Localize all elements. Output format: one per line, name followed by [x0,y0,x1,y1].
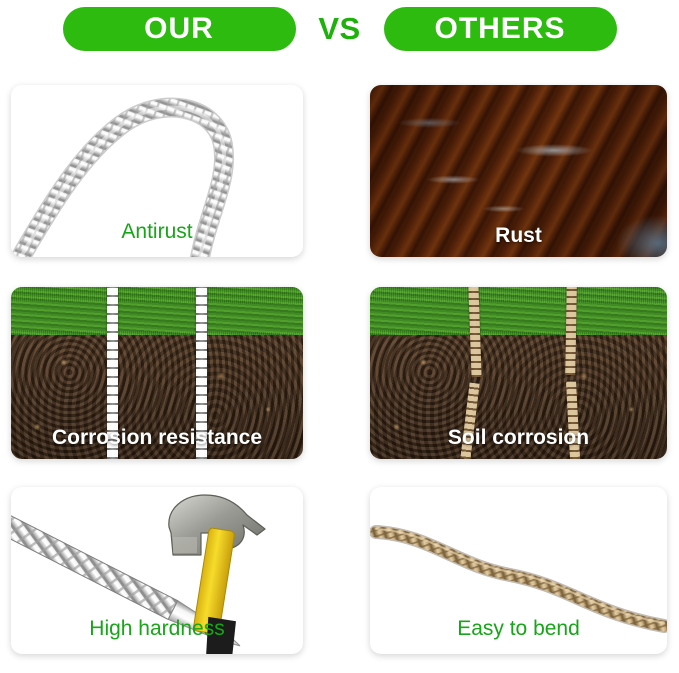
grass-layer [370,287,667,335]
bend-image [370,487,667,654]
soil-layer [11,335,303,459]
silver-stake-right-icon [196,287,207,459]
rebar-stake-with-hammer-icon [11,487,303,654]
our-badge-label: OUR [144,12,214,46]
comparison-header: OUR VS OTHERS [0,0,679,58]
vs-label: VS [318,11,360,47]
card-others-rust: Rust [370,85,667,257]
vs-separator: VS [296,11,384,47]
soil-cross-section-bad [370,287,667,459]
our-badge: OUR [63,7,296,51]
others-badge: OTHERS [384,7,617,51]
card-our-high-hardness: High hardness [11,487,303,654]
bent-soft-rebar-icon [370,487,667,654]
hardness-image [11,487,303,654]
rusty-rebar-photo [370,85,667,257]
corroded-stake-right-upper-icon [565,287,577,375]
comparison-grid: Antirust Rust Corrosion resistance Soil … [0,58,679,673]
soil-layer [370,335,667,459]
antirust-image [11,85,303,257]
grass-layer [11,287,303,335]
silver-stake-left-icon [107,287,118,459]
card-our-corrosion-resistance: Corrosion resistance [11,287,303,459]
soil-cross-section-good [11,287,303,459]
bent-galvanized-rebar-icon [11,85,303,257]
others-badge-label: OTHERS [434,12,565,46]
card-others-soil-corrosion: Soil corrosion [370,287,667,459]
card-others-easy-to-bend: Easy to bend [370,487,667,654]
card-our-antirust: Antirust [11,85,303,257]
